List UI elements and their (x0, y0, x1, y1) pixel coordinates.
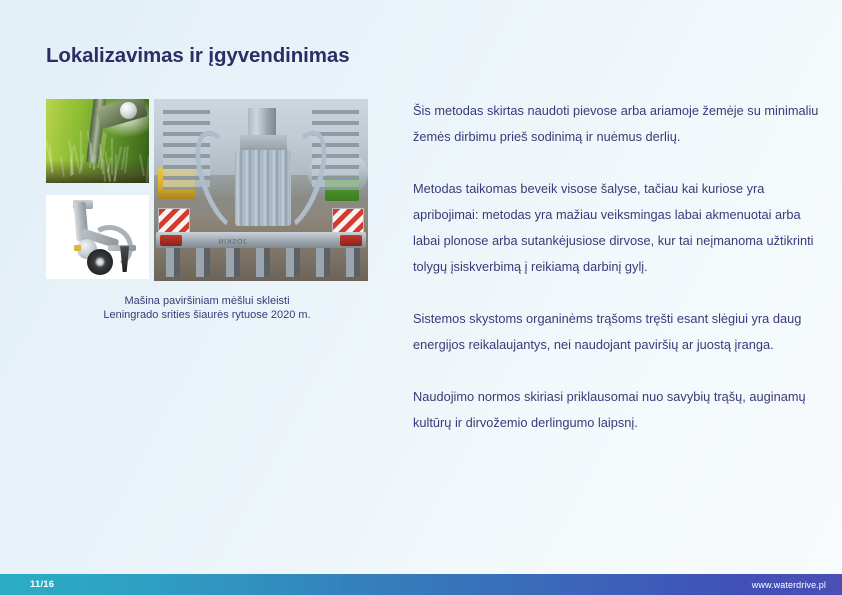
warning-chevron-right (332, 208, 364, 234)
product-tine (120, 246, 129, 272)
slide-footer: 11/16 www.waterdrive.pl (0, 574, 842, 595)
footer-url[interactable]: www.waterdrive.pl (752, 580, 826, 590)
tool-beam (156, 232, 366, 248)
photo-grass-injector (46, 99, 149, 183)
product-yellow-accent (74, 245, 81, 251)
injector-shoes (160, 248, 361, 277)
image-stack-left (46, 99, 149, 279)
warning-chevron-left (158, 208, 190, 234)
tail-light-left (160, 235, 181, 246)
body-paragraph: Metodas taikomas beveik visose šalyse, t… (413, 176, 825, 280)
photo-product-coulter (46, 195, 149, 279)
image-caption: Mašina paviršiniam mėšlui skleisti Lenin… (46, 294, 368, 322)
page-title: Lokalizavimas ir įgyvendinimas (46, 44, 350, 68)
tail-light-right (340, 235, 361, 246)
body-paragraph: Šis metodas skirtas naudoti pievose arba… (413, 98, 825, 150)
page-number: 11/16 (30, 579, 54, 590)
machine-brand-label: JOSKIN (218, 239, 247, 246)
body-paragraph: Naudojimo normos skiriasi priklausomai n… (413, 384, 825, 436)
body-column: Šis metodas skirtas naudoti pievose arba… (413, 98, 825, 436)
media-column: JOSKIN (46, 99, 368, 281)
body-paragraph: Sistemos skystoms organinėms trąšoms trę… (413, 306, 825, 358)
hose-bundle (235, 150, 291, 226)
photo-slurry-injector: JOSKIN (154, 99, 368, 281)
caption-line-2: Leningrado srities šiaurės rytuose 2020 … (46, 308, 368, 322)
slide: Lokalizavimas ir įgyvendinimas (0, 0, 842, 595)
media-row: JOSKIN (46, 99, 368, 281)
grass-blade (111, 138, 113, 175)
caption-line-1: Mašina paviršiniam mėšlui skleisti (46, 294, 368, 308)
product-wheel (87, 249, 113, 275)
